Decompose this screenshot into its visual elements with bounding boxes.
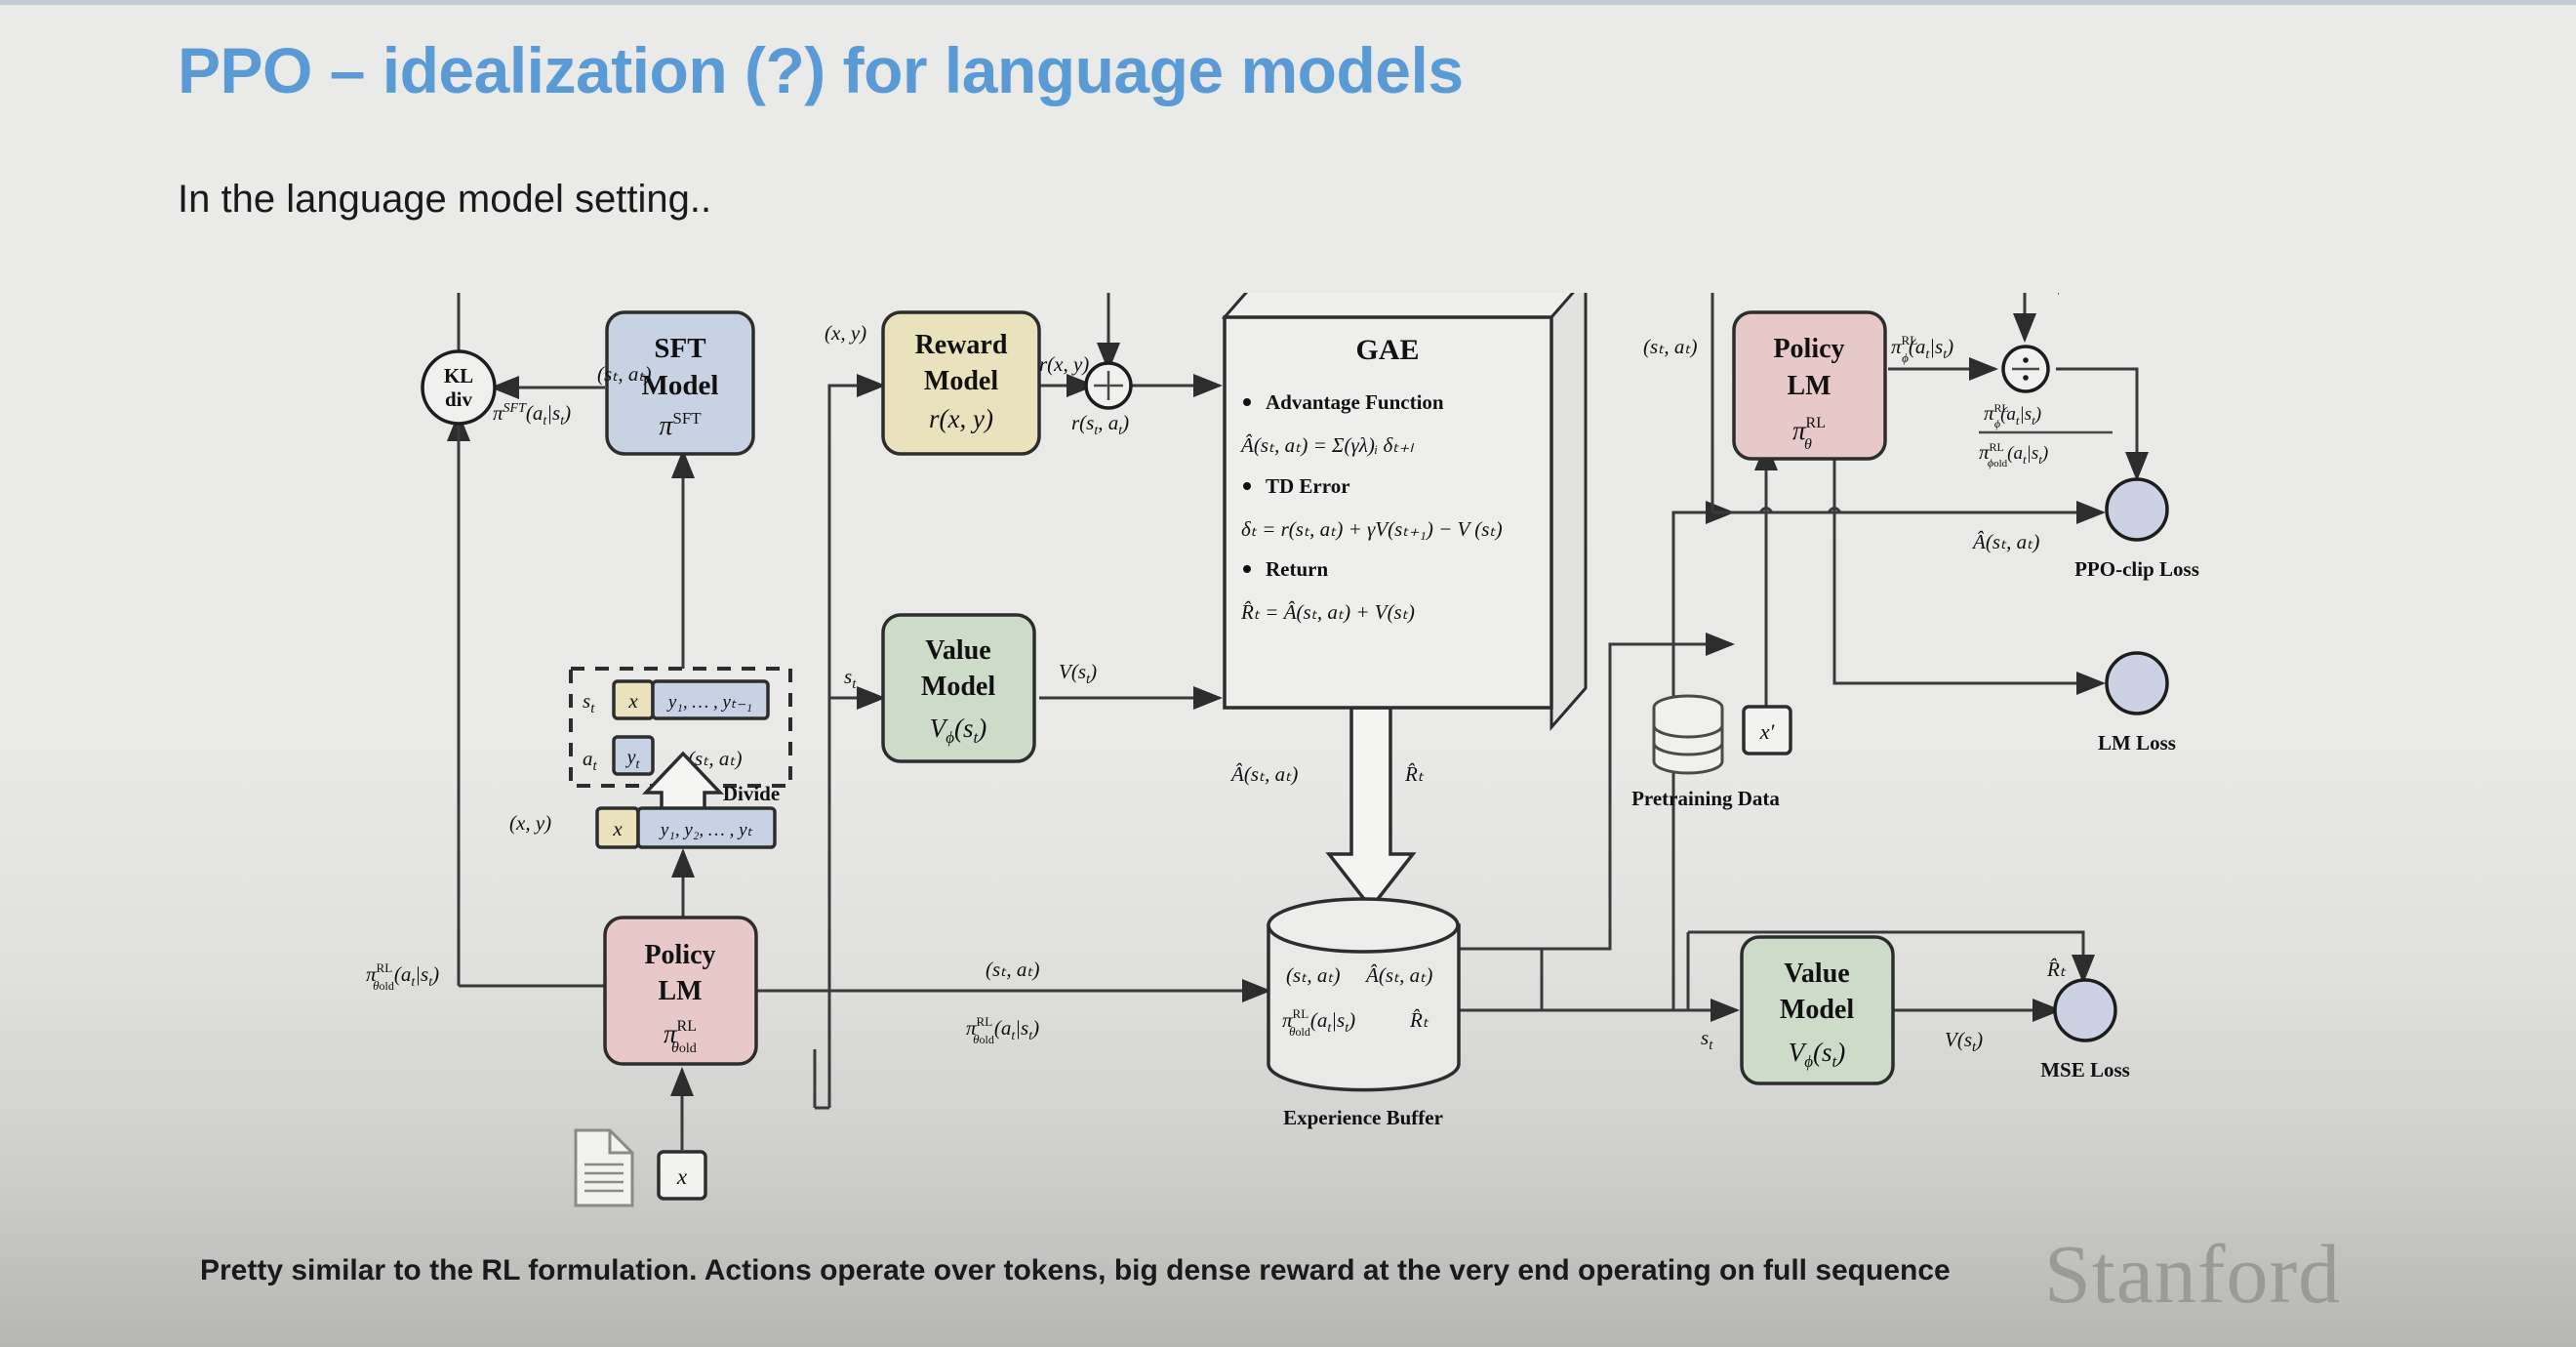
mse-loss-node: MSE Loss <box>2040 980 2130 1082</box>
edge-label-gae-ret: R̂ₜ <box>1404 762 1425 786</box>
edge-label-buffer-prob: πRLθold(at|st) <box>966 1014 1039 1046</box>
kl-div-line1: KL <box>444 364 473 388</box>
page-title: PPO – idealization (?) for language mode… <box>178 33 1464 107</box>
buffer-row1-left: (sₜ, aₜ) <box>1286 963 1341 987</box>
edge-label-st-bottom: st <box>1701 1026 1713 1053</box>
full-seq-tokens: y₁, y₂, … , yₜ <box>659 820 753 840</box>
policy-old-line1: Policy <box>644 940 715 970</box>
sft-model-line1: SFT <box>654 333 705 364</box>
edge-label-sum-out: r(st, at) <box>1071 411 1129 438</box>
gae-box: GAE Advantage Function Â(sₜ, aₜ) = Σ(γλ)… <box>1225 293 1586 727</box>
user-query-token: x <box>676 1164 688 1189</box>
kl-div-node: KL div <box>423 351 495 424</box>
reward-model-line2: Model <box>924 366 998 396</box>
edge-label-policy-old: πRLθold(at|st) <box>366 960 439 993</box>
gae-bullet-0-heading: Advantage Function <box>1266 390 1444 414</box>
policy-new-line2: LM <box>1787 371 1831 401</box>
policy-lm-new-box: Policy LM πRLθ <box>1734 312 1885 459</box>
edge-label-value-out-bottom: V(st) <box>1945 1028 1983 1055</box>
ppo-clip-loss-node: PPO-clip Loss <box>2074 479 2199 581</box>
full-sequence-group: (x, y) x y₁, y₂, … , yₜ <box>509 808 775 847</box>
full-seq-xy-label: (x, y) <box>509 811 551 835</box>
experience-buffer-caption: Experience Buffer <box>1283 1106 1443 1129</box>
reward-model-line1: Reward <box>915 330 1008 360</box>
edge-label-value-out: V(st) <box>1059 660 1097 687</box>
sft-model-line2: Model <box>642 370 719 401</box>
edge-label-reward-out: r(x, y) <box>1039 352 1089 376</box>
value-model-top-box: Value Model Vϕ(st) <box>883 615 1034 761</box>
pretraining-data-caption: Pretraining Data <box>1631 787 1780 810</box>
top-border <box>0 0 2576 5</box>
reward-model-box: Reward Model r(x, y) <box>883 312 1039 454</box>
reward-model-math: r(x, y) <box>929 404 993 433</box>
user-query-group: User Query <box>552 1130 655 1220</box>
experience-buffer-node: (sₜ, aₜ) Â(sₜ, aₜ) πRLθold(at|st) R̂ₜ Ex… <box>1268 899 1459 1129</box>
page-subtitle: In the language model setting.. <box>178 178 711 222</box>
policy-old-line2: LM <box>658 976 702 1006</box>
edge-label-kl-sft: πSFT(at|st) <box>493 401 571 429</box>
wire-xy-to-reward <box>829 386 883 698</box>
ratio-numerator: πRLϕ(at|st) <box>1984 401 2041 430</box>
lm-loss-node: LM Loss <box>2098 653 2176 755</box>
edge-label-st-value: st <box>844 665 857 692</box>
ppo-pipeline-diagram: KL div πSFT(at|st) SFT Model πSFT (sₜ, a… <box>0 293 2576 1220</box>
gae-bullet-2-formula: R̂ₜ = Â(sₜ, aₜ) + V(sₜ) <box>1240 600 1415 624</box>
gae-title: GAE <box>1355 334 1419 366</box>
policy-new-line1: Policy <box>1773 334 1844 364</box>
action-label: at <box>583 747 598 774</box>
context-tokens: y₁, … , yₜ₋₁ <box>666 692 752 713</box>
ppo-clip-loss-caption: PPO-clip Loss <box>2074 557 2199 581</box>
divide-label: Divide <box>723 782 780 805</box>
value-model-top-math: Vϕ(st) <box>930 714 987 747</box>
edge-label-policy-new-out: πRLϕ(at|st) <box>1891 333 1953 365</box>
stanford-watermark: Stanford <box>2044 1225 2341 1323</box>
divide-operator-node <box>2003 347 2048 391</box>
edge-label-xy-reward: (x, y) <box>825 321 866 345</box>
value-bottom-line1: Value <box>1784 959 1849 989</box>
mse-loss-caption: MSE Loss <box>2040 1058 2130 1082</box>
buffer-row2-right: R̂ₜ <box>1409 1008 1429 1032</box>
xprime-token: x′ <box>1759 719 1776 744</box>
sum-operator-node <box>1086 363 1131 408</box>
ratio-fraction-label: πRLϕ(at|st) πRLϕold(at|st) <box>1979 401 2113 469</box>
gae-to-buffer-block-arrow <box>1329 708 1413 908</box>
state-label: st <box>583 689 595 716</box>
full-seq-prompt: x <box>612 817 623 840</box>
value-model-top-line2: Model <box>921 672 995 702</box>
gae-bullet-1-heading: TD Error <box>1266 474 1350 498</box>
value-model-bottom-box: Value Model Vϕ(st) <box>1742 937 1893 1083</box>
edge-label-policy-new-in: (sₜ, aₜ) <box>1643 335 1698 358</box>
wire-policy-to-lm-loss <box>1834 444 2103 683</box>
slide-caption: Pretty similar to the RL formulation. Ac… <box>200 1254 1951 1287</box>
edge-label-buffer-pair: (sₜ, aₜ) <box>986 958 1040 981</box>
gae-bullet-0-formula: Â(sₜ, aₜ) = Σ(γλ)ᵢ δₜ₊ₗ <box>1239 433 1414 457</box>
policy-lm-old-box: Policy LM πRLθold <box>605 918 756 1064</box>
value-bottom-math: Vϕ(st) <box>1789 1038 1846 1071</box>
gae-bullet-2-heading: Return <box>1266 557 1328 581</box>
edge-label-ret-mse: R̂ₜ <box>2046 958 2067 981</box>
buffer-row1-right: Â(sₜ, aₜ) <box>1364 963 1432 987</box>
edge-label-sft-input: (sₜ, aₜ) <box>597 362 652 386</box>
prompt-token-x: x <box>627 689 638 713</box>
value-model-top-line1: Value <box>925 635 990 666</box>
kl-div-line2: div <box>445 388 473 411</box>
edge-label-old-prob-top: πRLϕold(at|st) <box>2047 293 2122 295</box>
ratio-denominator: πRLϕold(at|st) <box>1979 440 2048 469</box>
wire-divide-to-clip <box>2056 369 2137 478</box>
lm-loss-caption: LM Loss <box>2098 731 2176 755</box>
edge-label-adv-clip: Â(sₜ, aₜ) <box>1971 530 2039 553</box>
wire-buffer-mid <box>1459 949 1542 1010</box>
gae-bullet-1-formula: δₜ = r(sₜ, aₜ) + γV(sₜ₊₁) − V (sₜ) <box>1241 517 1503 541</box>
value-bottom-line2: Model <box>1780 995 1854 1025</box>
edge-label-gae-adv: Â(sₜ, aₜ) <box>1229 762 1298 786</box>
